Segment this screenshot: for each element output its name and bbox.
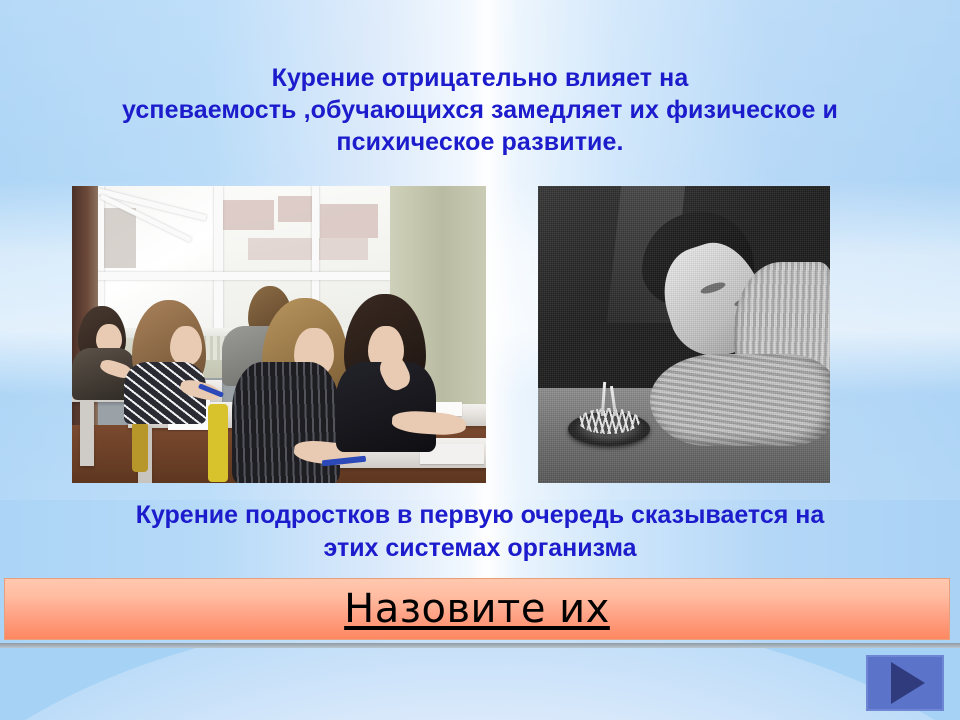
bw-photo-canvas xyxy=(538,186,830,483)
headline-line-1: Курение отрицательно влияет на xyxy=(8,62,952,94)
play-triangle-right-icon xyxy=(891,662,925,704)
subtitle-line-1: Курение подростков в первую очередь сказ… xyxy=(6,499,954,532)
window-mullion-horizontal xyxy=(96,272,418,280)
window-view-building-3 xyxy=(320,204,378,238)
slide-subtitle: Курение подростков в первую очередь сказ… xyxy=(6,499,954,565)
chair-yellow xyxy=(208,404,228,482)
bottom-solid-band xyxy=(0,648,960,720)
window-view-building-5 xyxy=(102,208,136,268)
slide-headline: Курение отрицательно влияет на успеваемо… xyxy=(8,62,952,158)
headline-line-3: психическое развитие. xyxy=(8,126,952,158)
window-mullion-vertical-2 xyxy=(214,186,223,338)
tired-smoker-photo xyxy=(538,186,830,483)
window-view-building-4 xyxy=(248,238,368,260)
bw-cigarette-butts xyxy=(578,408,640,434)
presentation-slide: Курение отрицательно влияет на успеваемо… xyxy=(0,0,960,720)
question-banner-text: Назовите их xyxy=(344,587,610,631)
headline-line-2: успеваемость ,обучающихся замедляет их ф… xyxy=(8,94,952,126)
next-slide-button[interactable] xyxy=(866,655,944,711)
classroom-students-photo xyxy=(72,186,486,483)
chair-wood xyxy=(132,422,148,472)
bottom-divider-line xyxy=(0,643,960,648)
window-view-building-1 xyxy=(222,200,274,230)
desk-back-leg xyxy=(80,398,94,466)
subtitle-line-2: этих системах организма xyxy=(6,532,954,565)
student-2-face xyxy=(170,326,202,366)
question-banner[interactable]: Назовите их xyxy=(4,578,950,640)
bw-person-forearm xyxy=(650,354,830,446)
